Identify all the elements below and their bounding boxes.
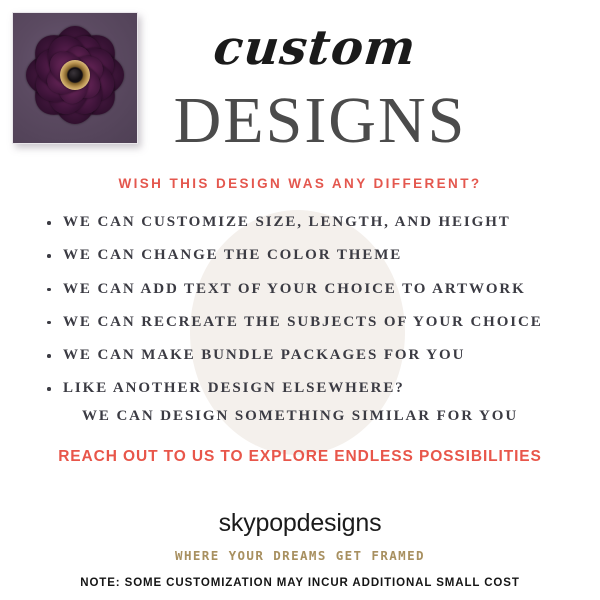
bullet-dot-icon — [47, 387, 51, 391]
bullet-dot-icon — [47, 288, 51, 292]
call-to-action: REACH OUT TO US TO EXPLORE ENDLESS POSSI… — [0, 448, 600, 466]
list-item: LIKE ANOTHER DESIGN ELSEWHERE? — [44, 380, 574, 397]
list-item: WE CAN CHANGE THE COLOR THEME — [44, 247, 574, 264]
footer-note: NOTE: SOME CUSTOMIZATION MAY INCUR ADDIT… — [0, 577, 600, 589]
brand-tagline: WHERE YOUR DREAMS GET FRAMED — [0, 548, 600, 563]
brand-name: skypopdesigns — [0, 509, 600, 538]
feature-list: WE CAN CUSTOMIZE SIZE, LENGTH, AND HEIGH… — [44, 214, 574, 441]
list-item: WE CAN MAKE BUNDLE PACKAGES FOR YOU — [44, 347, 574, 364]
bullet-dot-icon — [47, 254, 51, 258]
bullet-dot-icon — [47, 321, 51, 325]
list-item-label: WE CAN CHANGE THE COLOR THEME — [63, 247, 402, 263]
flower-center-icon — [60, 60, 90, 90]
promo-graphic: custom DESIGNS WISH THIS DESIGN WAS ANY … — [0, 0, 600, 600]
framed-artwork — [12, 12, 138, 144]
headline-script: custom — [147, 24, 482, 72]
bullet-dot-icon — [47, 354, 51, 358]
list-item-continuation: WE CAN DESIGN SOMETHING SIMILAR FOR YOU — [44, 408, 574, 425]
list-item-label: LIKE ANOTHER DESIGN ELSEWHERE? — [63, 380, 405, 396]
page-title: DESIGNS — [130, 88, 510, 154]
list-item-label: WE CAN MAKE BUNDLE PACKAGES FOR YOU — [63, 347, 465, 363]
flower-icon — [27, 27, 123, 123]
list-item-label: WE CAN RECREATE THE SUBJECTS OF YOUR CHO… — [63, 314, 543, 330]
list-item-label: WE CAN ADD TEXT OF YOUR CHOICE TO ARTWOR… — [63, 281, 526, 297]
list-item: WE CAN ADD TEXT OF YOUR CHOICE TO ARTWOR… — [44, 281, 574, 298]
list-item: WE CAN CUSTOMIZE SIZE, LENGTH, AND HEIGH… — [44, 214, 574, 231]
subtitle: WISH THIS DESIGN WAS ANY DIFFERENT? — [0, 176, 600, 191]
bullet-dot-icon — [47, 221, 51, 225]
list-item: WE CAN RECREATE THE SUBJECTS OF YOUR CHO… — [44, 314, 574, 331]
list-item-label: WE CAN CUSTOMIZE SIZE, LENGTH, AND HEIGH… — [63, 214, 511, 230]
list-item-label: WE CAN DESIGN SOMETHING SIMILAR FOR YOU — [82, 408, 518, 424]
